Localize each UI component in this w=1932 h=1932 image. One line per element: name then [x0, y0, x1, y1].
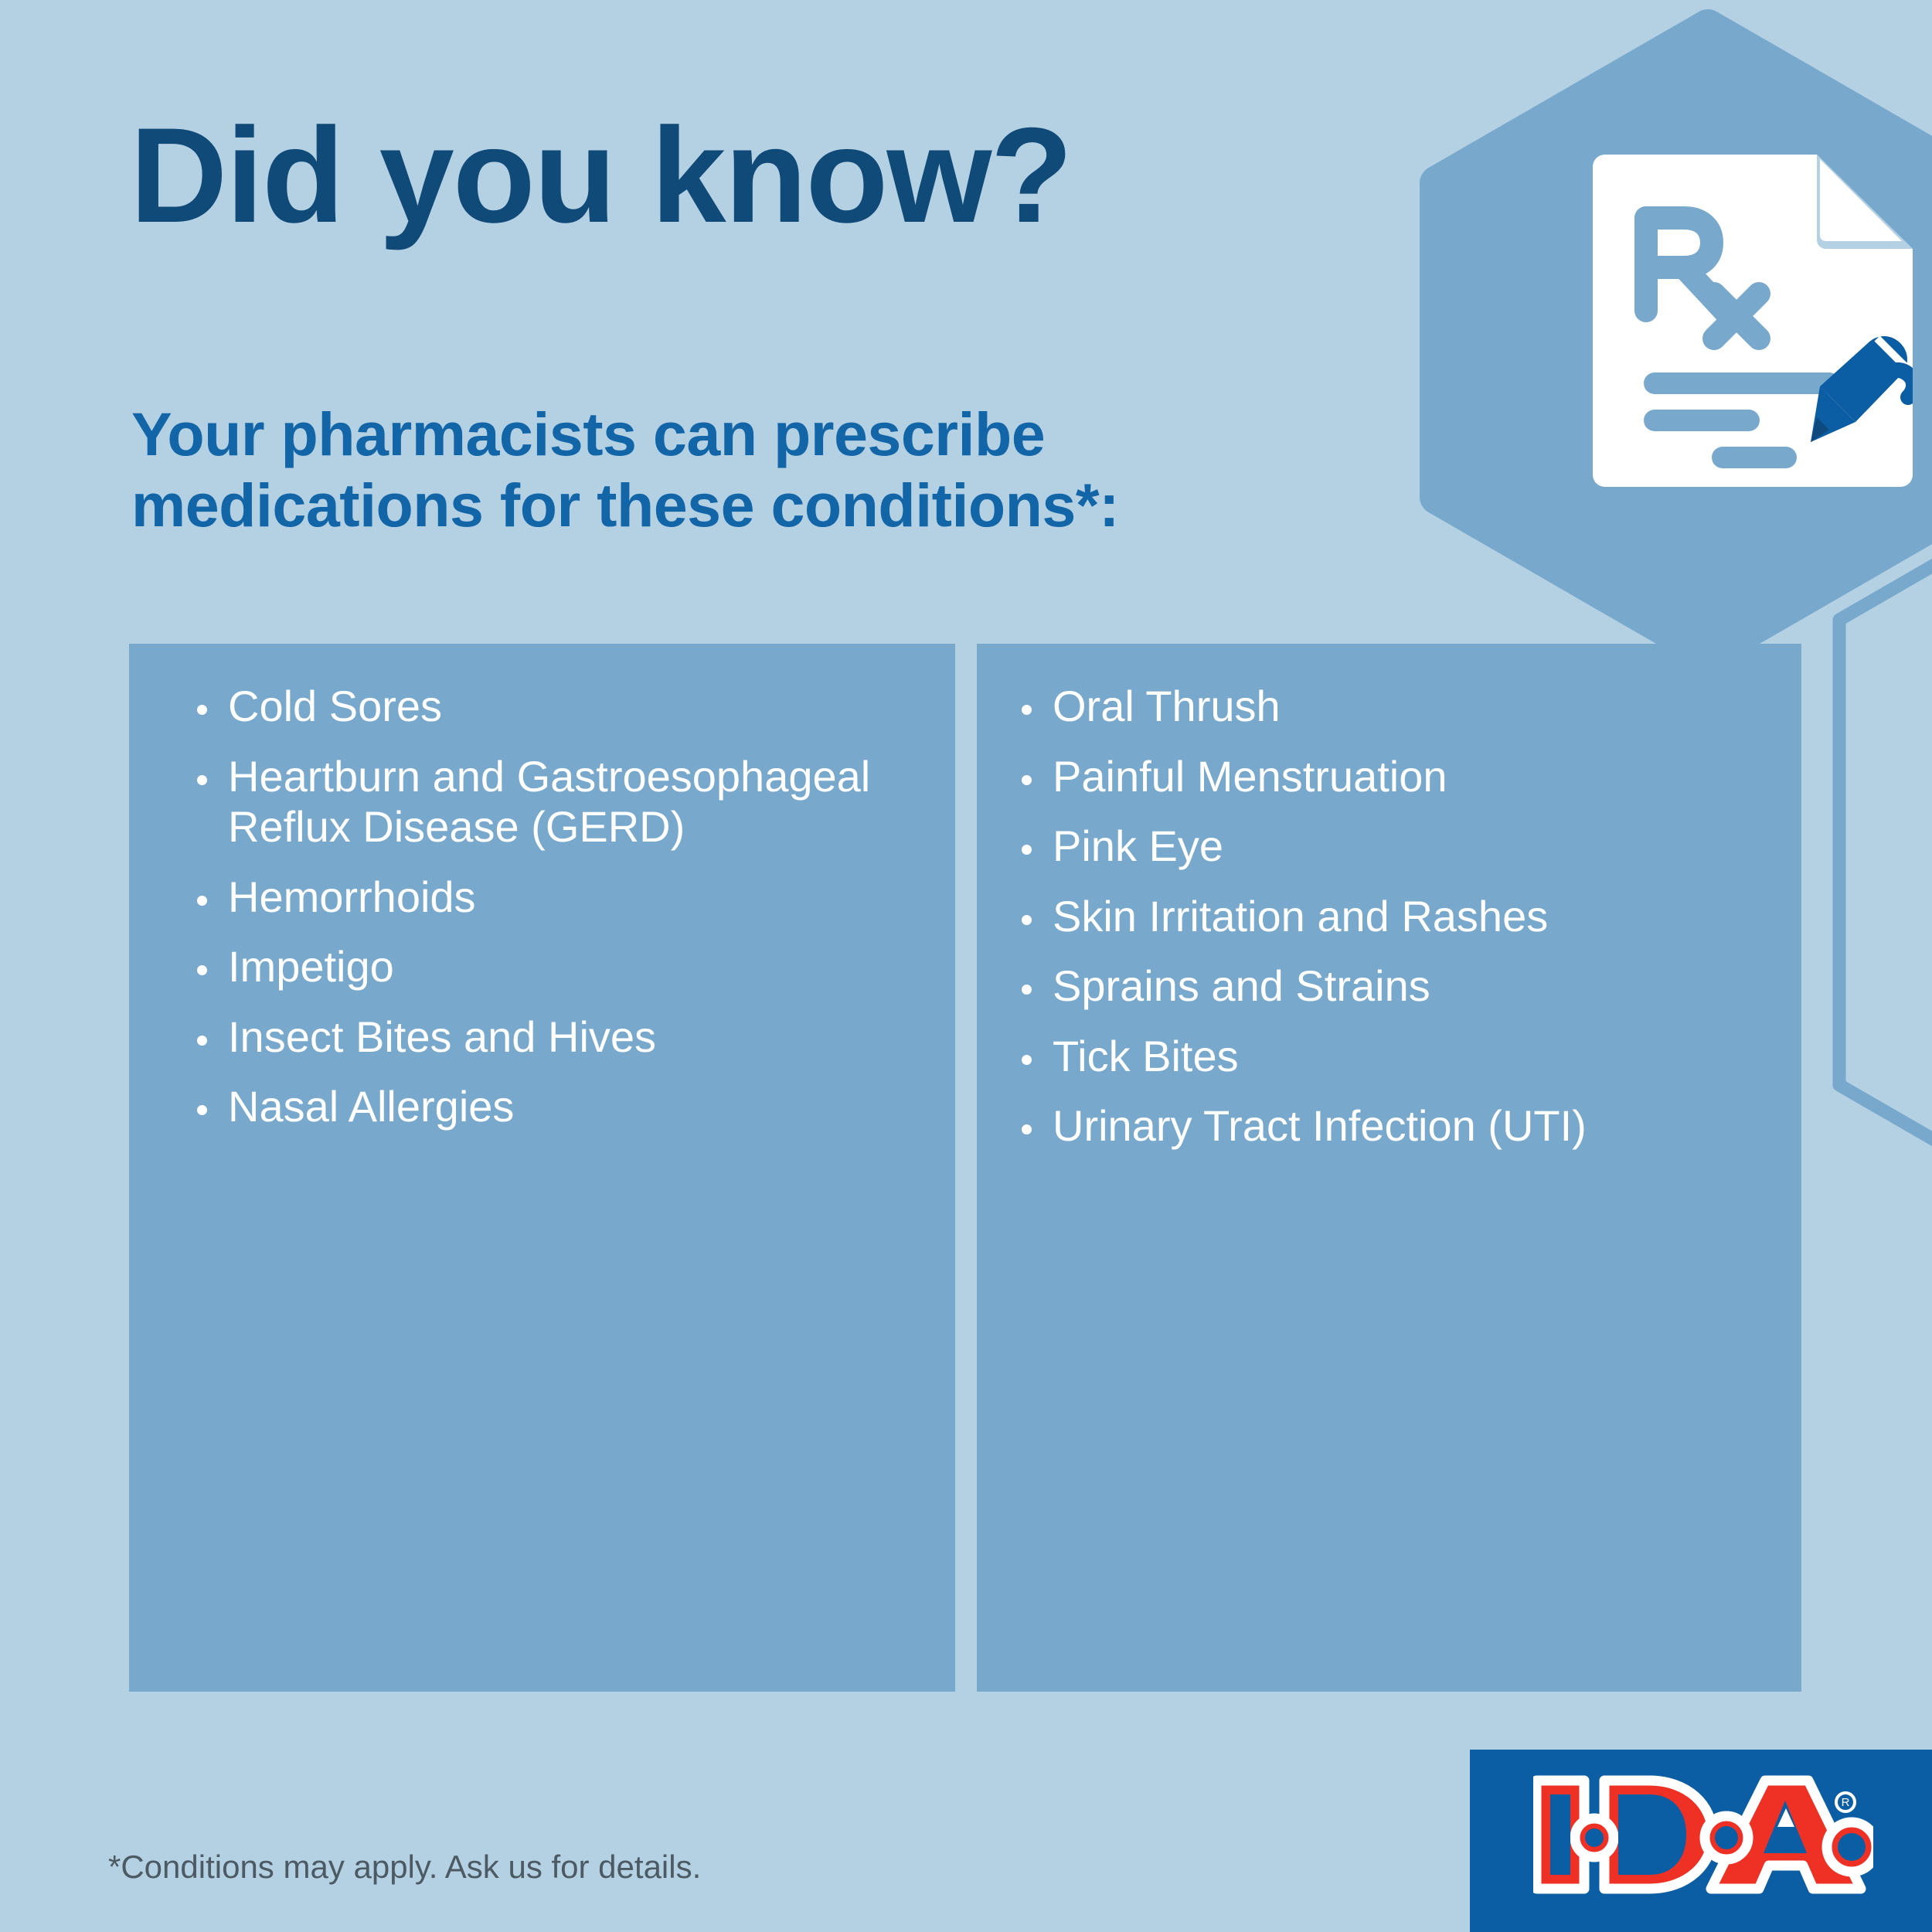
svg-text:R: R — [1842, 1796, 1850, 1809]
list-item: Skin Irritation and Rashes — [1015, 891, 1770, 942]
list-item: Hemorrhoids — [191, 872, 909, 923]
list-item: Pink Eye — [1015, 821, 1770, 872]
page-title: Did you know? — [130, 108, 1071, 243]
conditions-list-right: Oral Thrush Painful Menstruation Pink Ey… — [1015, 681, 1770, 1151]
list-item: Tick Bites — [1015, 1031, 1770, 1082]
list-item: Oral Thrush — [1015, 681, 1770, 732]
footnote-disclaimer: *Conditions may apply. Ask us for detail… — [108, 1849, 701, 1886]
page-subtitle-line-2: medications for these conditions*: — [131, 470, 1291, 541]
list-item: Cold Sores — [191, 681, 909, 732]
poster-canvas: Did you know? Your pharmacists can presc… — [0, 0, 1932, 1932]
list-item: Impetigo — [191, 941, 909, 992]
page-subtitle-line-1: Your pharmacists can prescribe — [131, 399, 1291, 470]
brand-logo-block: R — [1470, 1750, 1932, 1932]
list-item: Urinary Tract Infection (UTI) — [1015, 1100, 1770, 1151]
ida-logo-icon: R — [1533, 1773, 1873, 1896]
list-item: Insect Bites and Hives — [191, 1012, 909, 1063]
hexagon-outline-icon — [1839, 539, 1932, 1165]
list-item: Sprains and Strains — [1015, 961, 1770, 1012]
list-item: Heartburn and Gastroesophageal Reflux Di… — [191, 751, 909, 852]
conditions-panel-left: Cold Sores Heartburn and Gastroesophagea… — [129, 644, 955, 1692]
prescription-document-icon — [1588, 155, 1913, 487]
list-item: Painful Menstruation — [1015, 751, 1770, 802]
page-subtitle: Your pharmacists can prescribe medicatio… — [131, 399, 1291, 540]
conditions-panel-right: Oral Thrush Painful Menstruation Pink Ey… — [977, 644, 1801, 1692]
conditions-list-left: Cold Sores Heartburn and Gastroesophagea… — [191, 681, 909, 1132]
list-item: Nasal Allergies — [191, 1081, 909, 1132]
